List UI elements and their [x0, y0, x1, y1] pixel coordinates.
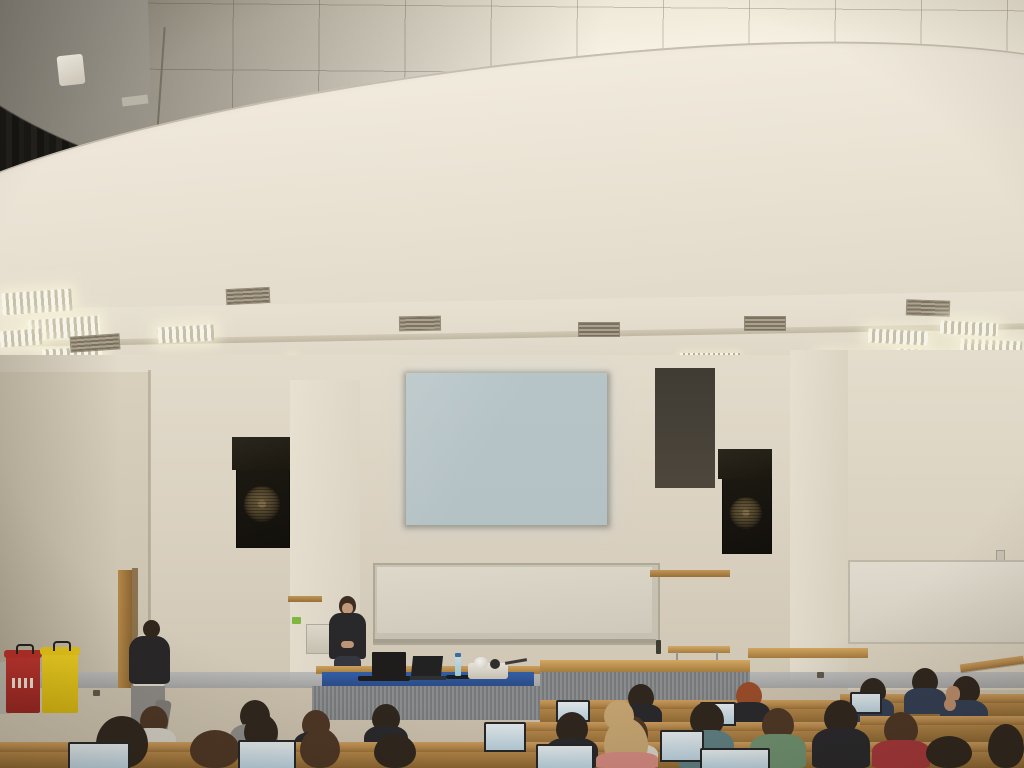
recycling-bin-yellow-handle	[53, 641, 71, 651]
exit-sign	[292, 617, 301, 624]
ceiling-light-panel	[158, 325, 215, 344]
speaker-left-top-baffle	[232, 437, 290, 470]
audience-head-front	[374, 734, 416, 768]
lecturer-desk-right	[540, 660, 750, 672]
recycling-bin-red-handle	[16, 644, 34, 654]
wooden-wall-rail-left	[288, 596, 322, 602]
audience-head-front	[190, 730, 240, 768]
audience-desk-row-front	[0, 752, 1024, 768]
lecture-hall-photo: E-shop akademie Řízení marketingu – Kaná…	[0, 0, 1024, 768]
audience-laptop-screen	[852, 694, 880, 712]
ceiling-vent	[578, 322, 620, 337]
lecturer-laptop-base	[408, 676, 446, 680]
presenter-hands	[341, 641, 354, 648]
ceiling-speaker-box	[57, 54, 86, 87]
water-bottle	[455, 656, 461, 676]
speaker-left-grille-lines	[244, 486, 280, 522]
podium-front-panel	[312, 686, 542, 720]
speaker-right-grille-lines	[730, 497, 762, 529]
water-bottle-cap	[455, 653, 461, 657]
walking-student-head	[143, 620, 160, 638]
water-bottle-side-table	[656, 640, 661, 654]
audience-head-front	[926, 736, 972, 768]
ceiling-vent	[744, 316, 786, 331]
lecturer-laptop[interactable]	[411, 656, 443, 676]
white-device-lens	[490, 659, 500, 669]
audience-hand-on-chin	[944, 698, 956, 711]
audience-laptop-screen	[486, 724, 524, 750]
walking-student-hoodie	[129, 636, 170, 684]
wall-socket[interactable]	[93, 690, 100, 696]
wall-shadow	[0, 355, 120, 685]
audience-head-front	[988, 724, 1024, 768]
recycling-bin-red-label	[12, 678, 34, 688]
speaker-right-top-baffle	[718, 449, 772, 479]
audience-laptop-screen-front	[70, 744, 128, 768]
audience-body	[812, 728, 870, 768]
projection-screen: E-shop akademie Řízení marketingu – Kaná…	[406, 373, 607, 525]
desk-monitor	[372, 652, 406, 676]
ceiling-light-panel	[0, 329, 43, 348]
right-wall-column	[790, 350, 850, 680]
ceiling-vent	[399, 316, 441, 332]
white-device-dome	[474, 657, 488, 669]
far-desk	[748, 648, 868, 658]
recycling-bin-yellow	[42, 652, 78, 713]
ceiling-vent	[226, 287, 271, 305]
whiteboard-pen-tray	[373, 639, 656, 643]
wall-recess	[655, 368, 715, 488]
audience-laptop-screen-front	[538, 746, 592, 768]
wooden-wall-rail	[650, 570, 730, 577]
ceiling-vent	[906, 299, 951, 317]
wall-socket-right[interactable]	[817, 672, 824, 678]
right-whiteboard	[848, 560, 1024, 644]
audience-body	[872, 740, 930, 768]
audience-laptop-screen-front	[702, 750, 768, 768]
audience-laptop-screen-front	[240, 742, 294, 768]
audience-body-front	[596, 752, 658, 768]
audience-laptop-screen	[662, 732, 702, 760]
whiteboard	[377, 567, 652, 633]
desk-cables	[358, 676, 410, 681]
audience-head-front	[300, 728, 340, 768]
presenter-blazer	[329, 613, 366, 659]
